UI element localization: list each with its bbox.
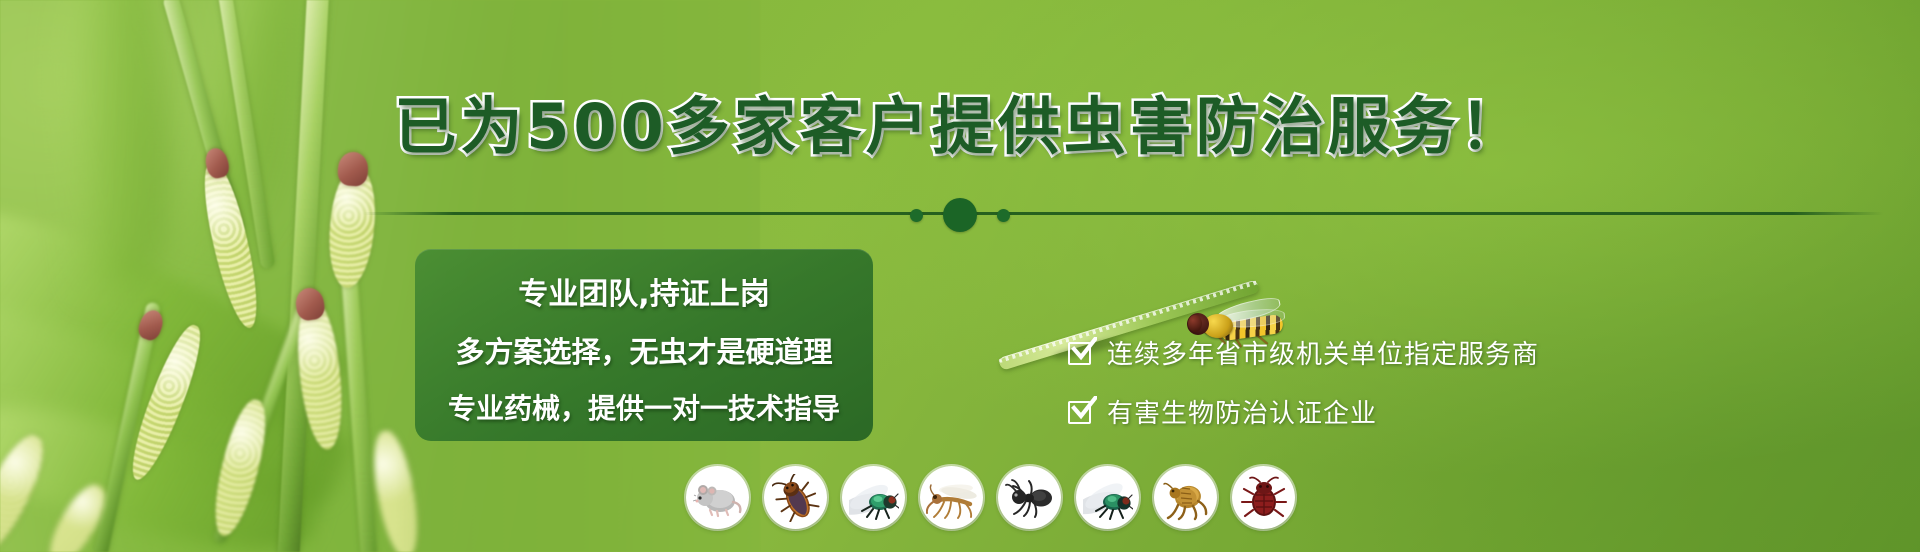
list-item: 连续多年省市级机关单位指定服务商 [1068,334,1539,371]
dot-small-icon [997,209,1010,222]
insect-eye [1188,315,1202,332]
pest-housefly-icon[interactable] [842,466,905,529]
pest-mosquito-icon[interactable] [920,466,983,529]
pest-ant-icon[interactable] [998,466,1061,529]
dot-small-icon [910,209,923,222]
checkbox-checked-icon [1068,399,1094,425]
headline-text: 已为500多家客户提供虫害防治服务！ [394,90,1525,163]
pest-cockroach-icon[interactable] [764,466,827,529]
divider-rule [363,212,1883,215]
selling-point-line: 多方案选择，无虫才是硬道理 [441,329,847,371]
list-item: 有害生物防治认证企业 [1068,393,1539,430]
pest-types-row [686,466,1295,529]
dot-large-icon [943,198,977,232]
selling-points-box: 专业团队,持证上岗 多方案选择，无虫才是硬道理 专业药械，提供一对一技术指导 [415,249,873,441]
pest-control-hero-banner: 已为500多家客户提供虫害防治服务！ 专业团队,持证上岗 多方案选择，无虫才是硬… [0,0,1920,552]
pest-flea-icon[interactable] [1154,466,1217,529]
pest-blowfly-icon[interactable] [1076,466,1139,529]
credentials-checklist: 连续多年省市级机关单位指定服务商 有害生物防治认证企业 [1068,334,1539,430]
credential-label: 有害生物防治认证企业 [1107,393,1377,430]
page-title: 已为500多家客户提供虫害防治服务！ [394,76,1525,166]
credential-label: 连续多年省市级机关单位指定服务商 [1107,334,1539,371]
selling-point-line: 专业药械，提供一对一技术指导 [441,387,847,427]
decorative-dots [910,198,1010,232]
pest-bedbug-icon[interactable] [1232,466,1295,529]
selling-point-line: 专业团队,持证上岗 [441,269,847,313]
pest-rodent-icon[interactable] [686,466,749,529]
checkbox-checked-icon [1068,340,1094,366]
